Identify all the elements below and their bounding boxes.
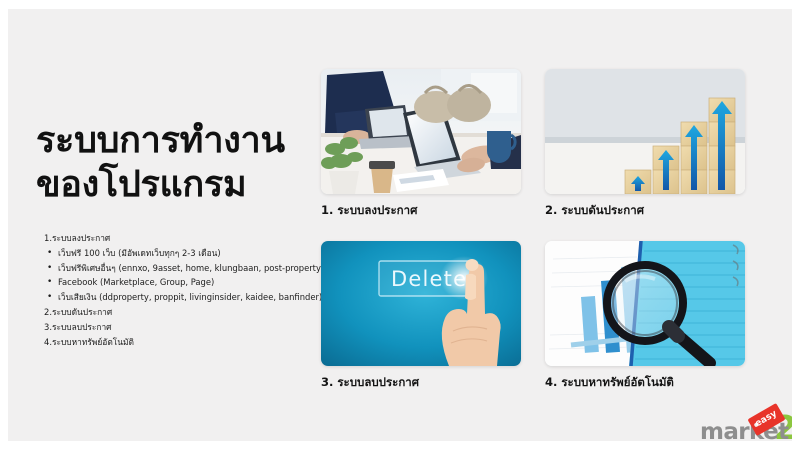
- list-item: 1.ระบบลงประกาศ: [38, 231, 328, 246]
- card-image-people-working-on-laptops: [321, 69, 521, 194]
- list-item: • Facebook (Marketplace, Group, Page): [38, 275, 328, 290]
- feature-list: 1.ระบบลงประกาศ • เว็บฟรี 100 เว็บ (มีอัพ…: [38, 231, 328, 349]
- list-item: • เว็บฟรีพิเศษอื่นๆ (ennxo, 9asset, home…: [38, 261, 328, 276]
- bullet-dot-icon: •: [47, 290, 52, 305]
- card-image-ascending-wooden-blocks-with-blue-arrows: [545, 69, 745, 194]
- list-item-label: 3.ระบบลบประกาศ: [44, 322, 111, 332]
- bullet-dot-icon: •: [47, 261, 52, 276]
- list-item-label: 1.ระบบลงประกาศ: [44, 233, 110, 243]
- list-item-label: 4.ระบบหาทรัพย์อัตโนมัติ: [44, 337, 134, 347]
- list-item-label: Facebook (Marketplace, Group, Page): [58, 277, 214, 287]
- title-line-1: ระบบการทำงาน: [36, 119, 336, 163]
- list-item-label: เว็บฟรีพิเศษอื่นๆ (ennxo, 9asset, home, …: [58, 263, 324, 273]
- bullet-dot-icon: •: [47, 275, 52, 290]
- list-item: 3.ระบบลบประกาศ: [38, 320, 328, 335]
- brand-logo: 2 market easy Market2Easy.com: [700, 409, 792, 441]
- card-caption-2: 2. ระบบดันประกาศ: [545, 202, 644, 220]
- bullet-dot-icon: •: [47, 246, 52, 261]
- page-title: ระบบการทำงาน ของโปรแกรม: [36, 119, 336, 207]
- list-item: • เว็บเสียเงิน (ddproperty, proppit, liv…: [38, 290, 328, 305]
- card-caption-4: 4. ระบบหาทรัพย์อัตโนมัติ: [545, 374, 674, 392]
- card-caption-3: 3. ระบบลบประกาศ: [321, 374, 419, 392]
- title-line-2: ของโปรแกรม: [36, 163, 336, 207]
- presentation-slide: ระบบการทำงาน ของโปรแกรม 1.ระบบลงประกาศ •…: [8, 9, 792, 441]
- list-item: • เว็บฟรี 100 เว็บ (มีอัพเดทเว็บทุกๆ 2-3…: [38, 246, 328, 261]
- list-item-label: เว็บฟรี 100 เว็บ (มีอัพเดทเว็บทุกๆ 2-3 เ…: [58, 248, 221, 258]
- list-item-label: เว็บเสียเงิน (ddproperty, proppit, livin…: [58, 292, 322, 302]
- card-image-magnifying-glass-over-chart: [545, 241, 745, 366]
- list-item: 2.ระบบดันประกาศ: [38, 305, 328, 320]
- slide-frame: ระบบการทำงาน ของโปรแกรม 1.ระบบลงประกาศ •…: [0, 0, 800, 450]
- card-caption-1: 1. ระบบลงประกาศ: [321, 202, 417, 220]
- list-item-label: 2.ระบบดันประกาศ: [44, 307, 112, 317]
- card-image-finger-pressing-delete-button: Delete: [321, 241, 521, 366]
- list-item: 4.ระบบหาทรัพย์อัตโนมัติ: [38, 335, 328, 350]
